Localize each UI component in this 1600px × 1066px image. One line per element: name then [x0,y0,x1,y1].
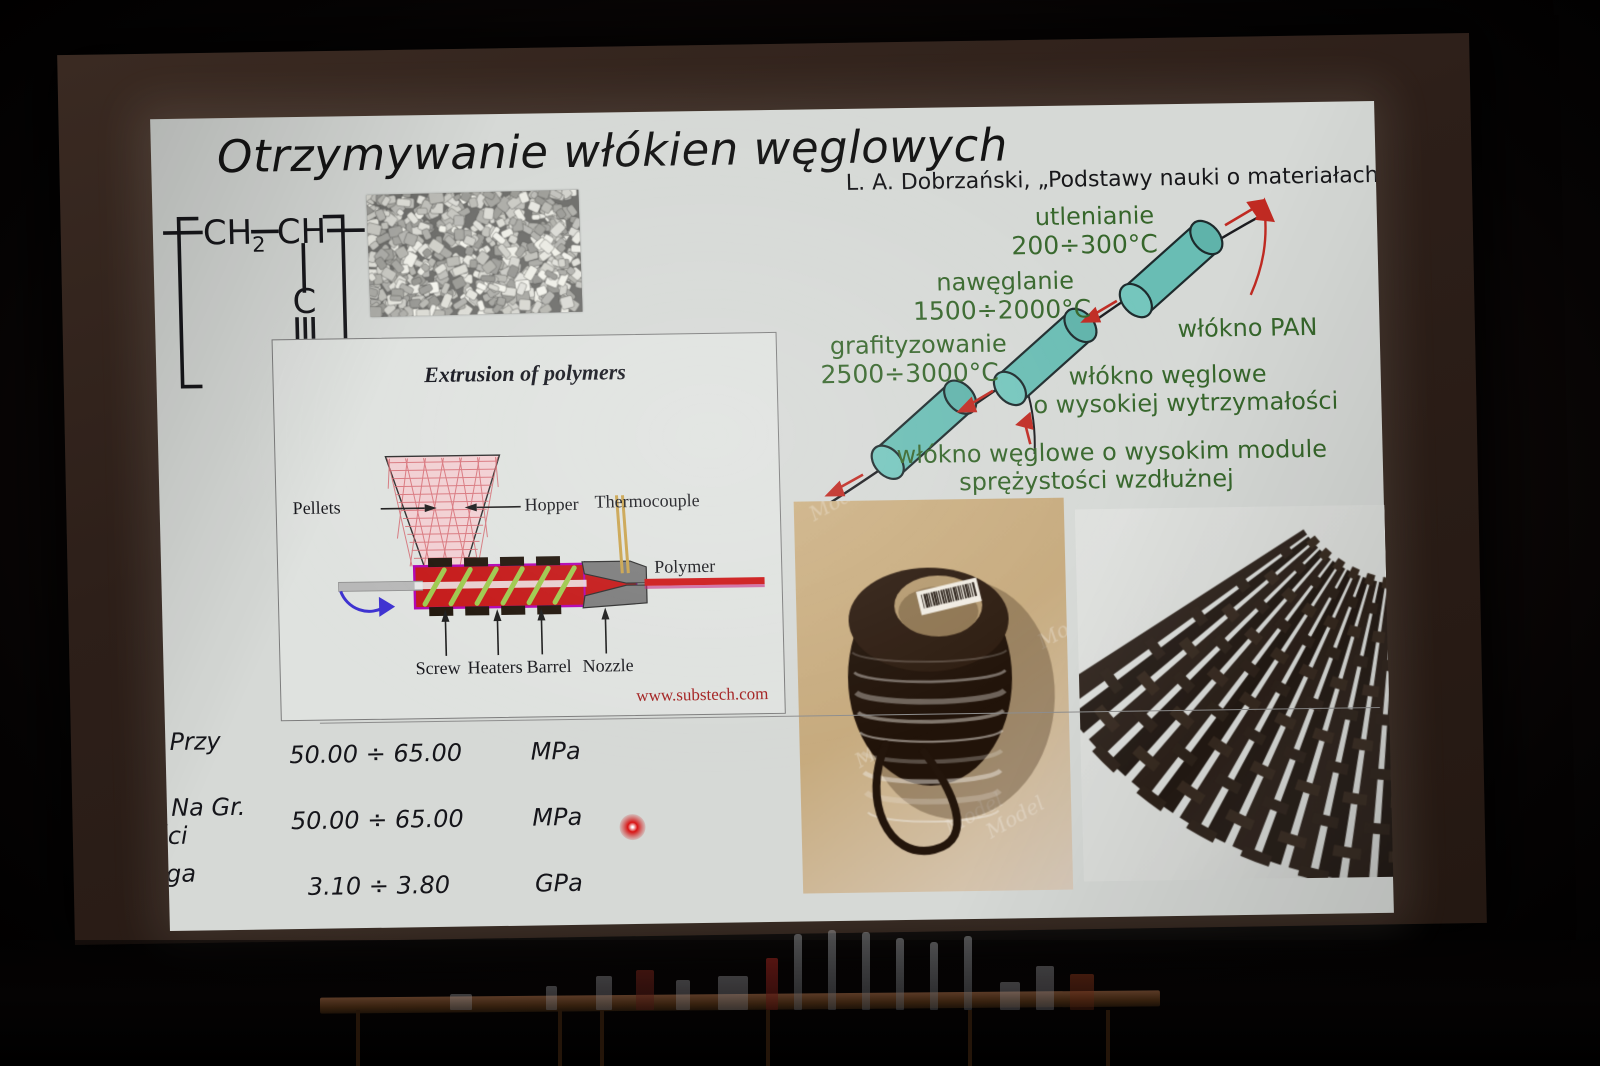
formula-ch2: CH [202,213,252,254]
glassware-item [676,980,690,1010]
bench-leg [600,1010,604,1066]
label-nawęglanie-temp: 1500÷2000°C [913,295,1092,325]
property-value: 3.10 ÷ 3.80 [279,870,480,901]
glassware-item [450,994,472,1010]
glassware-item [596,976,612,1010]
polymer-pellets-photo [366,190,582,317]
beaker [718,976,748,1010]
glassware-item [766,958,778,1010]
label-screw: Screw [415,658,460,680]
table-row: Naprężenie Przy Zerwaniu 50.00 ÷ 65.00 M… [150,721,726,797]
label-nawęglanie: nawęglanie [936,268,1074,296]
lab-bench [300,926,1180,1066]
label-nozzle: Nozzle [582,655,633,677]
property-value: 50.00 ÷ 65.00 [277,804,478,835]
lecture-room: Otrzymywanie włókien węglowych L. A. Dob… [0,0,1600,1066]
test-tube [862,932,870,1010]
label-thermocouple: Thermocouple [594,490,699,513]
glassware-item [636,970,654,1010]
carbon-fiber-weave-photo [1075,504,1394,881]
test-tube [964,936,972,1010]
formula-carbon: C [292,282,317,322]
extrusion-diagram-box: Extrusion of polymers [272,332,786,721]
presentation-slide: Otrzymywanie włókien węglowych L. A. Dob… [150,101,1394,931]
label-high-strength-line2: o wysokiej wytrzymałości [1033,388,1338,419]
test-tube [896,938,904,1010]
label-wlokno-pan: włókno PAN [1177,314,1318,342]
label-utlenianie-temp: 200÷300°C [1011,230,1158,260]
label-pellets: Pellets [292,497,341,519]
property-unit: MPa [497,802,618,832]
label-heaters: Heaters [467,657,522,679]
bench-leg [558,1010,562,1066]
pellets-canvas [366,190,582,317]
substech-watermark: www.substech.com [636,684,769,706]
bench-leg [766,1010,770,1066]
table-row: Moduł Younga 3.10 ÷ 3.80 GPa [150,853,730,929]
label-high-strength-line1: włókno węglowe [1068,361,1267,390]
glassware-item [1070,974,1094,1010]
property-value: 50.00 ÷ 65.00 [275,738,476,769]
label-polymer: Polymer [654,556,716,578]
carbon-fiber-spool-photo [794,498,1074,894]
formula-ch2-subscript: 2 [252,232,266,256]
label-grafityzowanie: grafityzowanie [830,331,1007,360]
glassware-item [546,986,557,1010]
test-tube [828,930,836,1010]
property-unit: GPa [499,868,620,898]
bench-leg [968,1010,972,1066]
property-name: Naprężenie Przy Zerwaniu [150,728,256,787]
label-grafityzowanie-temp: 2500÷3000°C [820,359,999,389]
label-hopper: Hopper [524,494,578,516]
label-high-modulus-line1: włókno węglowe o wysokim module [896,436,1327,469]
bench-leg [356,1010,360,1066]
glassware-item [1036,966,1054,1010]
label-high-modulus-line2: sprężystości wzdłużnej [959,465,1234,495]
test-tube [794,934,802,1010]
label-barrel: Barrel [526,656,571,678]
label-utlenianie: utlenianie [1034,202,1154,230]
formula-ch: CH [276,212,326,253]
glassware-item [1000,982,1020,1010]
property-unit: MPa [495,736,616,766]
bench-leg [1106,1010,1110,1066]
test-tube [930,942,938,1010]
